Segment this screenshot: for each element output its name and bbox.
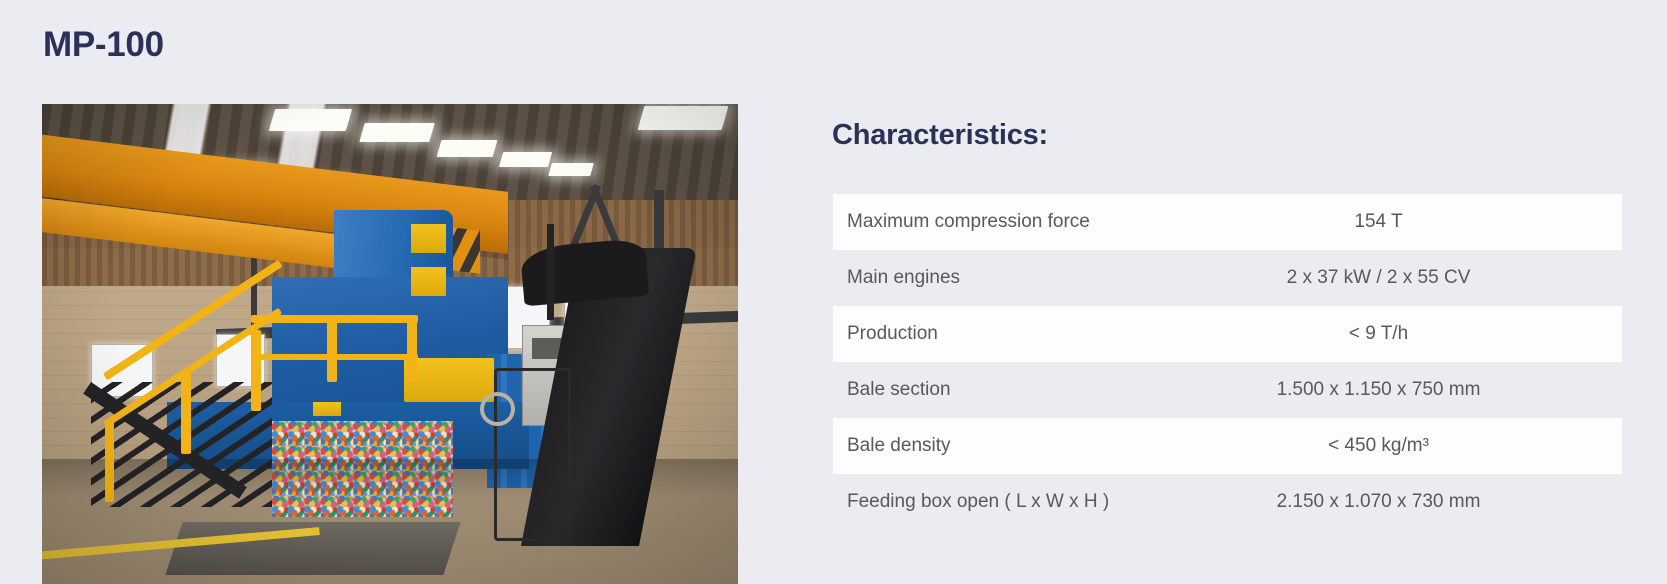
table-row: Feeding box open ( L x W x H ) 2.150 x 1…	[833, 474, 1622, 530]
page-title: MP-100	[43, 22, 164, 68]
spec-value: 1.500 x 1.150 x 750 mm	[1225, 378, 1622, 402]
table-row: Bale density < 450 kg/m³	[833, 418, 1622, 474]
table-row: Production < 9 T/h	[833, 306, 1622, 362]
product-photo	[42, 104, 738, 584]
photo-vignette	[42, 104, 738, 584]
characteristics-heading: Characteristics:	[832, 115, 1048, 155]
spec-value: 154 T	[1225, 210, 1622, 234]
table-row: Maximum compression force 154 T	[833, 194, 1622, 250]
spec-value: 2 x 37 kW / 2 x 55 CV	[1225, 266, 1622, 290]
characteristics-table: Maximum compression force 154 T Main eng…	[833, 194, 1622, 530]
spec-label: Bale section	[833, 378, 1225, 402]
product-detail-page: MP-100	[0, 0, 1667, 584]
spec-label: Main engines	[833, 266, 1225, 290]
table-row: Bale section 1.500 x 1.150 x 750 mm	[833, 362, 1622, 418]
table-row: Main engines 2 x 37 kW / 2 x 55 CV	[833, 250, 1622, 306]
product-photo-image	[42, 104, 738, 584]
spec-label: Bale density	[833, 434, 1225, 458]
spec-label: Maximum compression force	[833, 210, 1225, 234]
spec-value: < 450 kg/m³	[1225, 434, 1622, 458]
spec-label: Feeding box open ( L x W x H )	[833, 490, 1225, 514]
spec-value: < 9 T/h	[1225, 322, 1622, 346]
spec-label: Production	[833, 322, 1225, 346]
spec-value: 2.150 x 1.070 x 730 mm	[1225, 490, 1622, 514]
